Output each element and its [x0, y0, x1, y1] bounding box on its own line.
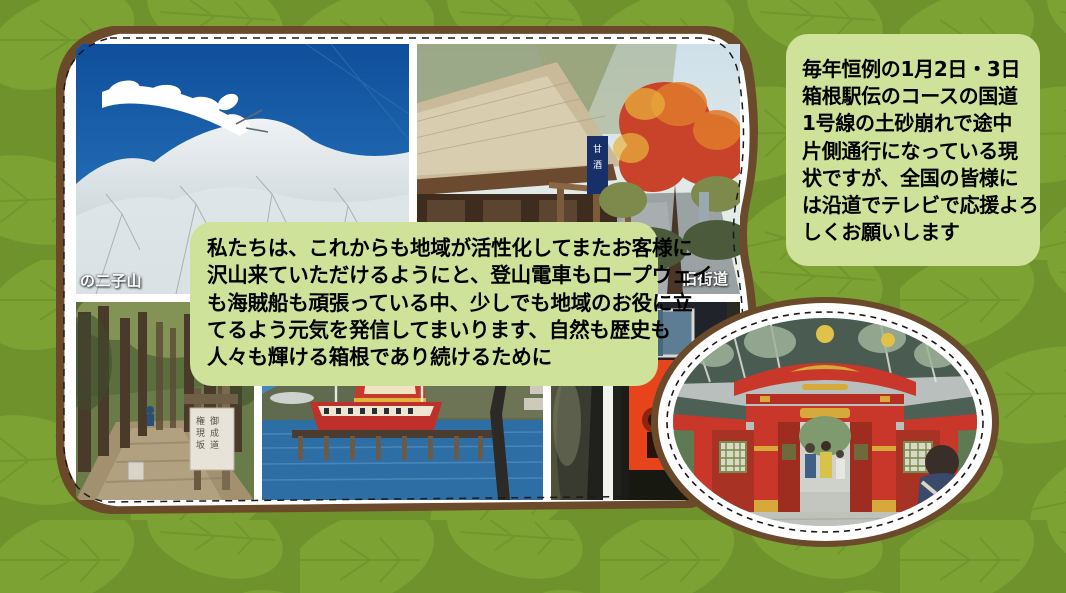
note-line: 箱根駅伝のコースの国道 [802, 83, 1027, 110]
svg-text:御: 御 [210, 415, 219, 427]
note-line: 1号線の土砂崩れで途中 [802, 110, 1027, 137]
note-line: 片側通行になっている現 [802, 138, 1027, 165]
note-line: しくお願いします [802, 219, 1027, 246]
bubble-line: てるよう元気を発信してまいります、自然も歴史も [207, 317, 642, 344]
note-line: 状ですが、全国の皆様に [802, 165, 1027, 192]
svg-text:坂: 坂 [196, 440, 205, 451]
svg-text:道: 道 [210, 439, 219, 451]
svg-text:甘: 甘 [593, 143, 602, 155]
bubble-line: 沢山来ていただけるようにと、登山電車もロープウェイ [207, 262, 642, 289]
main-message-bubble: 私たちは、これからも地域が活性化してまたお客様に 沢山来ていただけるようにと、登… [190, 222, 658, 386]
caption-snowy-mountain: の二子山 [80, 270, 142, 291]
note-line: は沿道でテレビで応援よろ [802, 192, 1027, 219]
new-year-ekiden-note-bubble: 毎年恒例の1月2日・3日 箱根駅伝のコースの国道 1号線の土砂崩れで途中 片側通… [786, 34, 1040, 266]
bubble-line: 人々も輝ける箱根であり続けるために [207, 344, 642, 371]
hakone-shrine-gate-oval [650, 296, 1000, 548]
svg-text:権: 権 [196, 415, 205, 427]
note-line: 毎年恒例の1月2日・3日 [802, 56, 1027, 83]
svg-text:現: 現 [196, 428, 205, 439]
svg-text:酒: 酒 [593, 160, 602, 171]
bubble-line: も海賊船も頑張っている中、少しでも地域のお役に立 [207, 290, 642, 317]
svg-text:成: 成 [210, 427, 219, 439]
bubble-line: 私たちは、これからも地域が活性化してまたお客様に [207, 235, 642, 262]
